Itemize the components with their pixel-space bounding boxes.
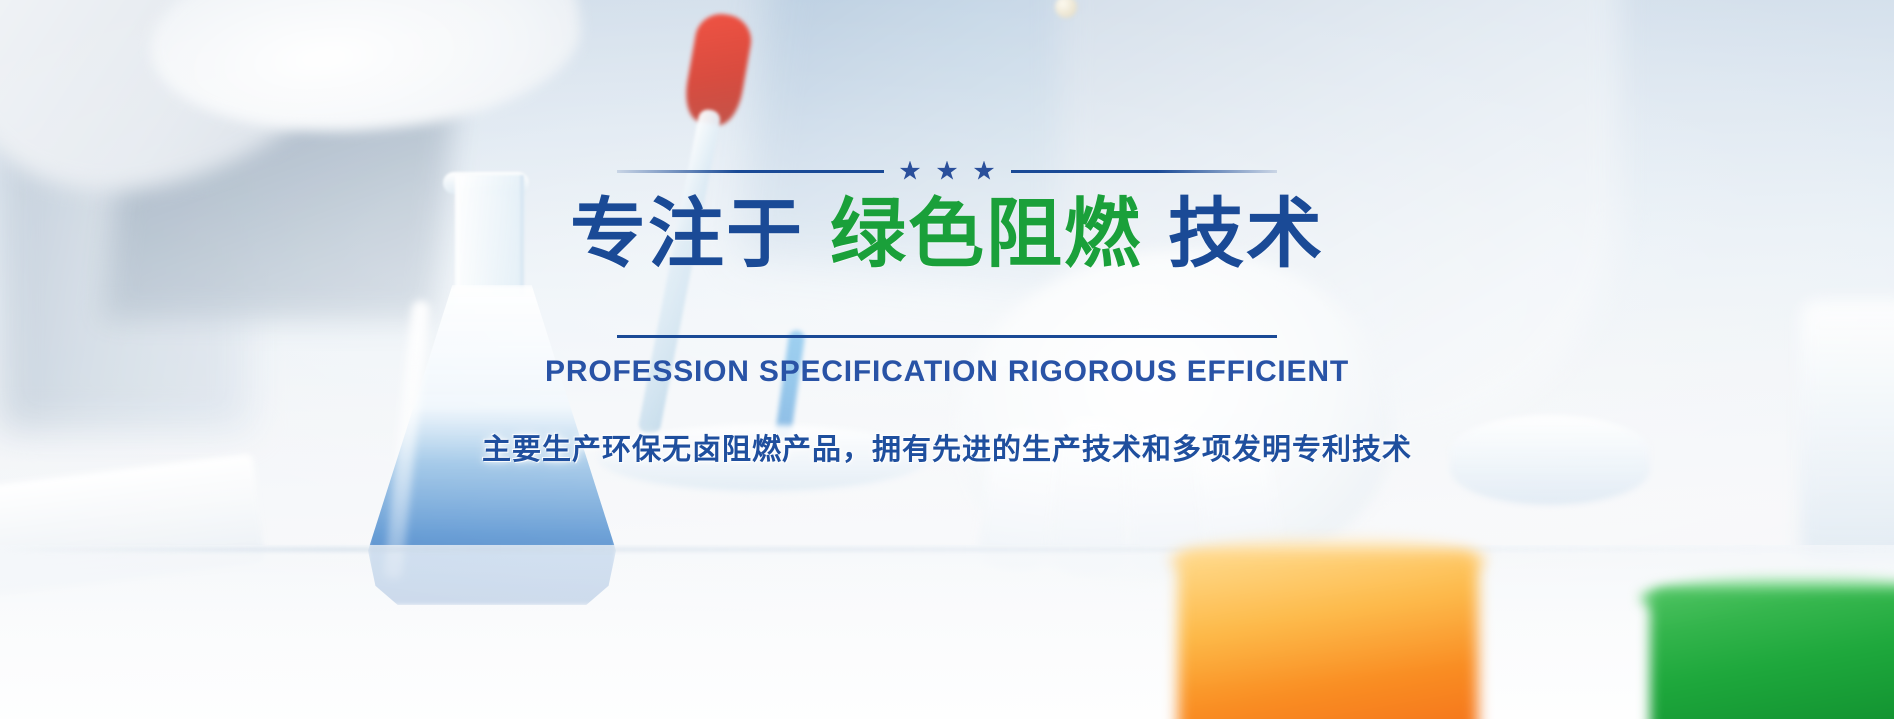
page-title: 专注于绿色阻燃技术 bbox=[570, 194, 1324, 275]
headline-underline bbox=[617, 335, 1277, 338]
horizontal-rule-right bbox=[1011, 170, 1278, 173]
headline-part-1: 专注于 bbox=[570, 189, 804, 278]
banner-description: 主要生产环保无卤阻燃产品，拥有先进的生产技术和多项发明专利技术 bbox=[482, 426, 1412, 468]
headline-part-3: 技术 bbox=[1168, 189, 1324, 278]
star-icon bbox=[900, 161, 921, 182]
headline-part-2: 绿色阻燃 bbox=[830, 189, 1142, 278]
star-group bbox=[900, 161, 995, 182]
star-icon bbox=[974, 161, 995, 182]
decorative-divider bbox=[617, 160, 1277, 182]
star-icon bbox=[937, 161, 958, 182]
banner-subtitle: PROFESSION SPECIFICATION RIGOROUS EFFICI… bbox=[545, 355, 1349, 389]
hero-banner: 专注于绿色阻燃技术 PROFESSION SPECIFICATION RIGOR… bbox=[0, 0, 1894, 719]
banner-content: 专注于绿色阻燃技术 PROFESSION SPECIFICATION RIGOR… bbox=[0, 160, 1894, 468]
horizontal-rule-left bbox=[617, 170, 884, 173]
